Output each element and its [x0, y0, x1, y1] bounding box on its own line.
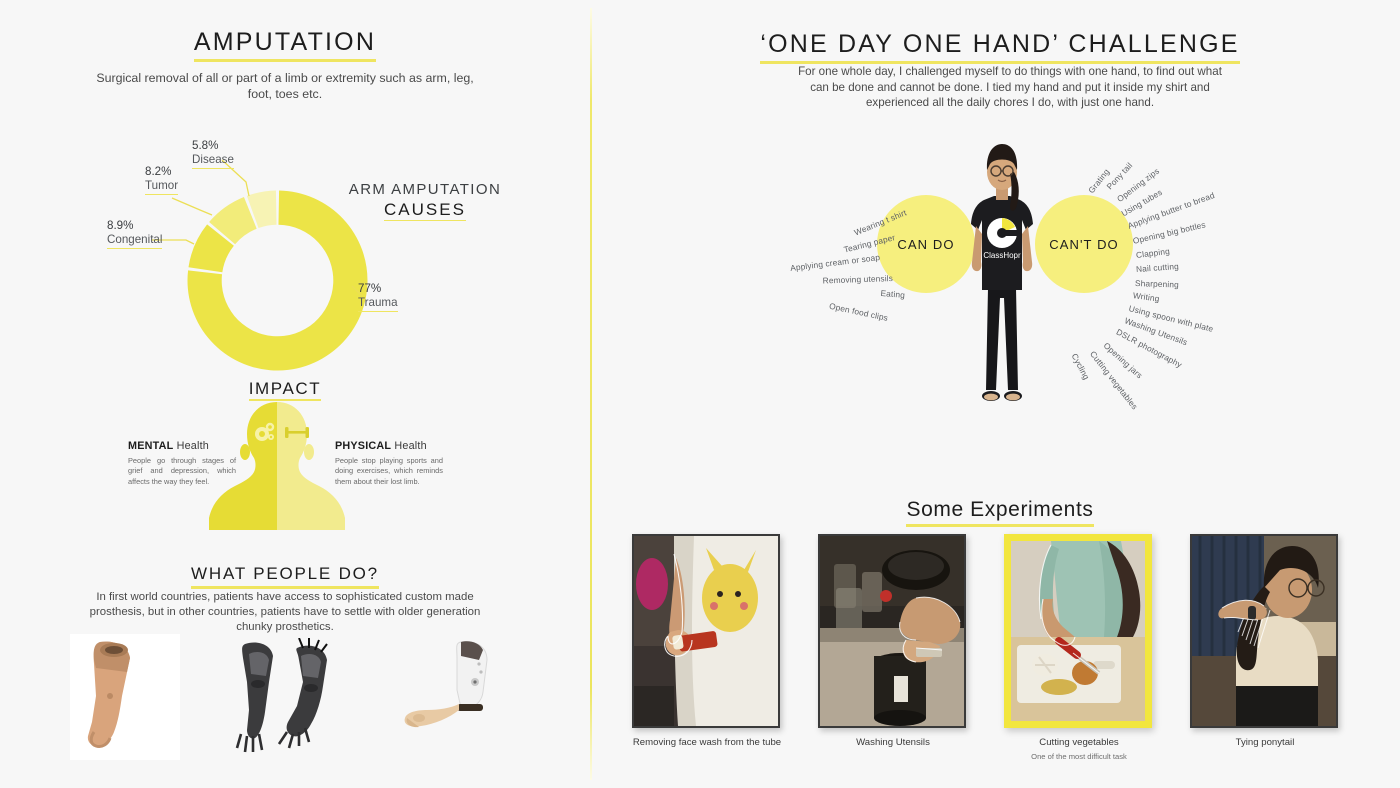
- impact-mental-heading-rest: Health: [173, 440, 209, 452]
- challenge-title-text: ‘ONE DAY ONE HAND’ CHALLENGE: [760, 30, 1239, 64]
- prosthetics-images: [60, 632, 520, 762]
- experiment-card-0[interactable]: Removing face wash from the tube: [632, 534, 782, 750]
- pie-label-disease-name: Disease: [192, 153, 234, 167]
- experiment-photo-washing-utensils[interactable]: [818, 534, 966, 728]
- experiment-caption-2: Cutting vegetables: [1004, 737, 1154, 750]
- what-people-do-title-text: WHAT PEOPLE DO?: [191, 564, 379, 589]
- experiment-photo-face-wash[interactable]: [632, 534, 780, 728]
- experiment-photo-cutting-vegetables-svg: [1011, 541, 1147, 721]
- amputation-title-text: AMPUTATION: [194, 28, 376, 62]
- cant-do-item-0: Grating: [1086, 167, 1111, 195]
- prosthetic-arm-white-modern-svg: [395, 638, 510, 756]
- pie-label-tumor-name: Tumor: [145, 179, 178, 193]
- causes-heading: ARM AMPUTATION CAUSES: [330, 180, 520, 220]
- pie-label-disease: 5.8% Disease: [192, 139, 234, 169]
- prosthetic-arm-beige-svg: [70, 634, 180, 760]
- panel-divider: [590, 8, 592, 780]
- experiment-caption-0: Removing face wash from the tube: [632, 737, 782, 750]
- infographic-page: AMPUTATION Surgical removal of all or pa…: [0, 0, 1400, 788]
- impact-mental-body: People go through stages of grief and de…: [128, 456, 236, 487]
- what-people-do-description: In first world countries, patients have …: [80, 590, 490, 635]
- experiment-caption-1: Washing Utensils: [818, 737, 968, 750]
- prosthetic-arm-white-modern: [395, 638, 510, 756]
- impact-physical-heading: PHYSICAL Health: [335, 440, 443, 452]
- causes-heading-line2: CAUSES: [384, 200, 466, 221]
- challenge-heading: ‘ONE DAY ONE HAND’ CHALLENGE: [600, 30, 1400, 64]
- person-photo-one-hand: ClassHopr: [962, 138, 1042, 438]
- experiments-heading: Some Experiments: [600, 498, 1400, 527]
- experiment-photo-washing-utensils-svg: [820, 536, 964, 726]
- impact-title-text: IMPACT: [249, 379, 322, 401]
- impact-mental-heading: MENTAL Health: [128, 440, 236, 452]
- pie-label-trauma: 77% Trauma: [358, 282, 398, 312]
- prosthetic-arm-robotic-pair-svg: [225, 638, 355, 756]
- experiment-card-3[interactable]: Tying ponytail: [1190, 534, 1340, 750]
- impact-physical-heading-rest: Health: [391, 440, 427, 452]
- cant-do-item-15: Cycling: [1070, 352, 1092, 382]
- impact-mental-heading-bold: MENTAL: [128, 440, 173, 452]
- experiment-caption-3: Tying ponytail: [1190, 737, 1340, 750]
- pie-label-trauma-name: Trauma: [358, 296, 398, 310]
- impact-physical-body: People stop playing sports and doing exe…: [335, 456, 443, 487]
- what-people-do-heading: WHAT PEOPLE DO?: [0, 564, 570, 589]
- pie-label-trauma-pct: 77%: [358, 282, 381, 295]
- can-do-label: CAN DO: [878, 237, 974, 252]
- pie-label-congenital-pct: 8.9%: [107, 219, 133, 232]
- experiment-card-2[interactable]: Cutting vegetables One of the most diffi…: [1004, 534, 1154, 761]
- cant-do-item-1: Pony tail: [1104, 160, 1134, 191]
- pie-label-congenital: 8.9% Congenital: [107, 219, 162, 249]
- person-svg: ClassHopr: [962, 138, 1042, 438]
- experiment-photo-tying-ponytail-svg: [1192, 536, 1336, 726]
- pie-label-congenital-name: Congenital: [107, 233, 162, 247]
- impact-physical-column: PHYSICAL Health People stop playing spor…: [335, 440, 443, 487]
- impact-mental-column: MENTAL Health People go through stages o…: [128, 440, 236, 487]
- experiment-subcaption-2: One of the most difficult task: [1004, 752, 1154, 761]
- experiment-card-1[interactable]: Washing Utensils: [818, 534, 968, 750]
- cant-do-label: CAN'T DO: [1036, 237, 1132, 252]
- experiments-title-text: Some Experiments: [906, 498, 1093, 527]
- cant-do-item-14: Cutting vegetables: [1088, 349, 1140, 411]
- pie-label-disease-pct: 5.8%: [192, 139, 218, 152]
- impact-heading: IMPACT: [0, 379, 570, 399]
- experiment-photo-tying-ponytail[interactable]: [1190, 534, 1338, 728]
- causes-heading-line1: ARM AMPUTATION: [330, 180, 520, 200]
- shirt-text: ClassHopr: [983, 251, 1021, 260]
- prosthetic-arm-robotic-pair: [225, 638, 355, 756]
- experiment-photo-cutting-vegetables[interactable]: [1004, 534, 1152, 728]
- pie-label-tumor-pct: 8.2%: [145, 165, 171, 178]
- prosthetic-arm-beige: [70, 634, 180, 760]
- pie-label-tumor: 8.2% Tumor: [145, 165, 178, 195]
- impact-physical-heading-bold: PHYSICAL: [335, 440, 391, 452]
- experiments-grid: Removing face wash from the tube: [600, 534, 1390, 774]
- experiment-photo-face-wash-svg: [634, 536, 778, 726]
- challenge-description: For one whole day, I challenged myself t…: [790, 64, 1230, 111]
- amputation-description: Surgical removal of all or part of a lim…: [85, 70, 485, 102]
- amputation-heading: AMPUTATION: [0, 28, 570, 62]
